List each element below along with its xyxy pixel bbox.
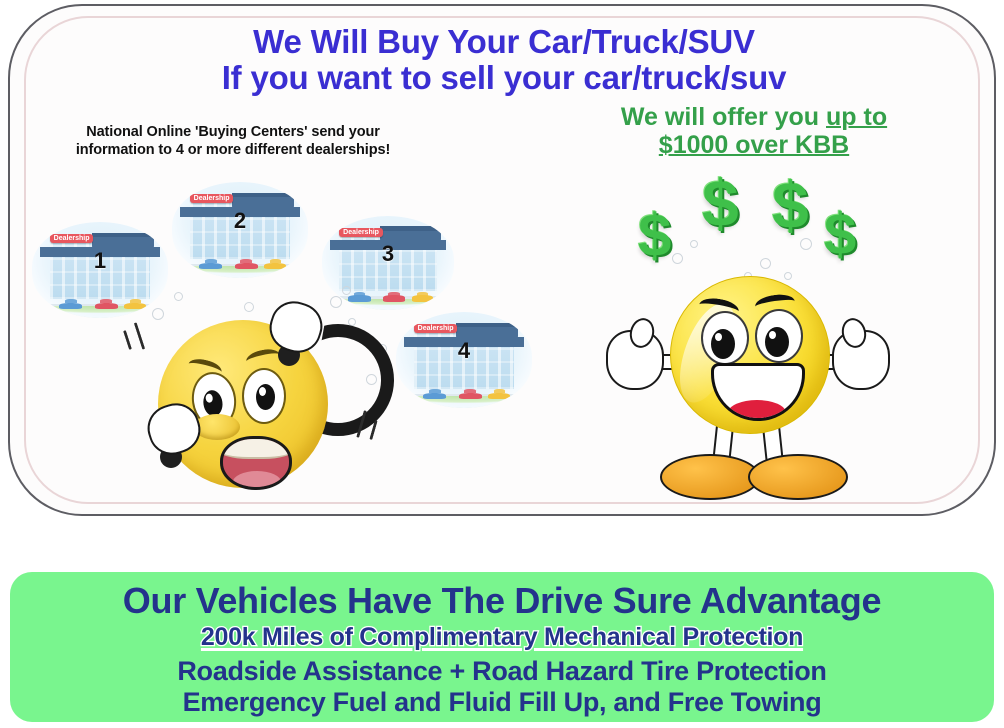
thumbs-up-icon-right: [832, 330, 890, 390]
happy-smiley-face: [670, 276, 830, 434]
thumbs-up-icon-left: [606, 330, 664, 390]
dealership-1-car-yellow: [124, 303, 146, 310]
dealership-thumbnail-3: Dealership 3: [322, 216, 454, 310]
dealership-1-sign: Dealership: [50, 234, 94, 243]
happy-smiley-eye-right: [755, 309, 803, 363]
dealership-thumbnail-4: Dealership 4: [396, 312, 532, 408]
dealership-4-roof-edge: [456, 323, 519, 328]
dealership-3-car-red: [383, 295, 405, 302]
dealership-2-car-red: [235, 263, 258, 270]
happy-smiley-shoe-right: [748, 454, 848, 500]
dollar-sign-icon: $: [824, 206, 856, 264]
confused-smiley-tongue: [233, 471, 281, 490]
confused-smiley-character: [150, 300, 360, 490]
dealership-2-car-blue: [199, 263, 222, 270]
offer-caption-upto: up to: [826, 103, 887, 131]
confused-smiley-eye-right: [242, 368, 286, 424]
dealership-3-number: 3: [322, 241, 454, 267]
dealership-2-roof-edge: [232, 193, 295, 198]
banner-line-1: Our Vehicles Have The Drive Sure Advanta…: [10, 580, 994, 621]
happy-smiley-character: [598, 268, 898, 488]
dealership-3-roof-edge: [380, 226, 441, 231]
confused-smiley-mouth: [220, 436, 292, 490]
happy-smiley-tongue: [728, 400, 786, 421]
dealership-2-sign: Dealership: [190, 194, 234, 203]
headline-line-2: If you want to sell your car/truck/suv: [10, 60, 998, 96]
dealership-4-car-yellow: [488, 393, 510, 400]
dealership-4-car-blue: [423, 393, 446, 400]
buying-centers-caption-line-2: information to 4 or more different deale…: [58, 142, 408, 160]
confused-smiley-eyebrow-right: [245, 347, 282, 370]
drive-sure-advantage-banner: Our Vehicles Have The Drive Sure Advanta…: [10, 572, 994, 722]
happy-smiley-eye-left: [701, 311, 749, 365]
dealership-4-sign: Dealership: [414, 324, 458, 333]
dealership-2-car-yellow: [264, 263, 286, 270]
dealership-3-sign: Dealership: [339, 228, 383, 237]
dealership-4-number: 4: [396, 338, 532, 364]
confused-smiley-teeth: [220, 437, 292, 459]
offer-caption-line-1: We will offer you up to: [584, 104, 924, 132]
dealership-2-number: 2: [172, 208, 308, 234]
happy-smiley-shoe-left: [660, 454, 760, 500]
dollar-sign-icon: $: [638, 206, 671, 266]
banner-line-2: 200k Miles of Complimentary Mechanical P…: [10, 622, 994, 652]
offer-caption: We will offer you up to $1000 over KBB: [584, 104, 924, 159]
offer-caption-amount: $1000 over KBB: [659, 131, 849, 159]
dealership-thumbnail-1: Dealership 1: [32, 222, 168, 318]
confused-smiley-nose: [194, 414, 240, 440]
flyer-canvas: We Will Buy Your Car/Truck/SUV If you wa…: [0, 0, 1004, 728]
dealership-1-car-blue: [59, 303, 82, 310]
thought-bubble-icon: [690, 240, 698, 248]
headline-line-1: We Will Buy Your Car/Truck/SUV: [10, 24, 998, 60]
banner-line-3: Roadside Assistance + Road Hazard Tire P…: [10, 656, 994, 687]
dealership-1-roof-edge: [92, 233, 155, 238]
dollar-sign-icon: $: [702, 170, 739, 236]
offer-caption-plain: We will offer you: [621, 103, 826, 131]
dealership-thumbnail-2: Dealership 2: [172, 182, 308, 278]
dealership-4-car-red: [459, 393, 482, 400]
dealership-1-car-red: [95, 303, 118, 310]
thought-bubble-icon: [800, 238, 812, 250]
happy-smiley-mouth: [711, 363, 805, 421]
buying-centers-caption-line-1: National Online 'Buying Centers' send yo…: [58, 124, 408, 142]
thought-bubble-icon: [342, 286, 351, 295]
dealership-1-number: 1: [32, 248, 168, 274]
thought-bubble-icon: [672, 253, 683, 264]
page-title: We Will Buy Your Car/Truck/SUV If you wa…: [10, 24, 998, 95]
dollar-sign-icon: $: [772, 172, 809, 238]
dealership-3-car-yellow: [412, 295, 433, 302]
offer-caption-line-2: $1000 over KBB: [584, 132, 924, 160]
banner-line-4: Emergency Fuel and Fluid Fill Up, and Fr…: [10, 687, 994, 718]
buying-centers-caption: National Online 'Buying Centers' send yo…: [58, 124, 408, 159]
